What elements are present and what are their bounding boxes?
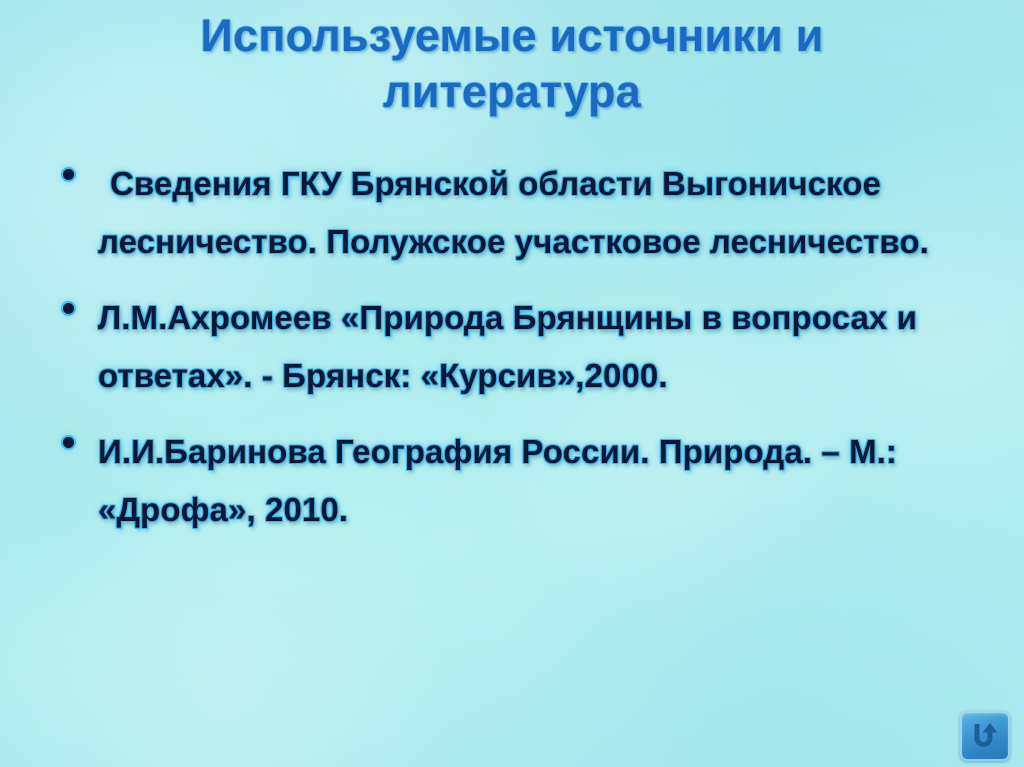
slide-title-line-2: литература (62, 64, 962, 120)
bullet-list: Сведения ГКУ Брянской области Выгоничско… (0, 155, 1024, 557)
bullet-dot-icon (63, 169, 74, 180)
list-item-text: Сведения ГКУ Брянской области Выгоничско… (98, 155, 984, 271)
list-item-text: И.И.Баринова География России. Природа. … (98, 423, 984, 539)
list-item: Л.М.Ахромеев «Природа Брянщины в вопроса… (0, 289, 1024, 405)
bullet-dot-icon (63, 437, 74, 448)
return-button[interactable] (960, 711, 1010, 761)
slide-title-line-1: Используемые источники и (62, 8, 962, 64)
u-turn-arrow-icon (968, 719, 1002, 753)
list-item: Сведения ГКУ Брянской области Выгоничско… (0, 155, 1024, 271)
list-item-text: Л.М.Ахромеев «Природа Брянщины в вопроса… (98, 289, 984, 405)
list-item: И.И.Баринова География России. Природа. … (0, 423, 1024, 539)
bullet-dot-icon (63, 303, 74, 314)
slide-title: Используемые источники и литература (62, 8, 962, 120)
presentation-slide: Используемые источники и литература Свед… (0, 0, 1024, 767)
